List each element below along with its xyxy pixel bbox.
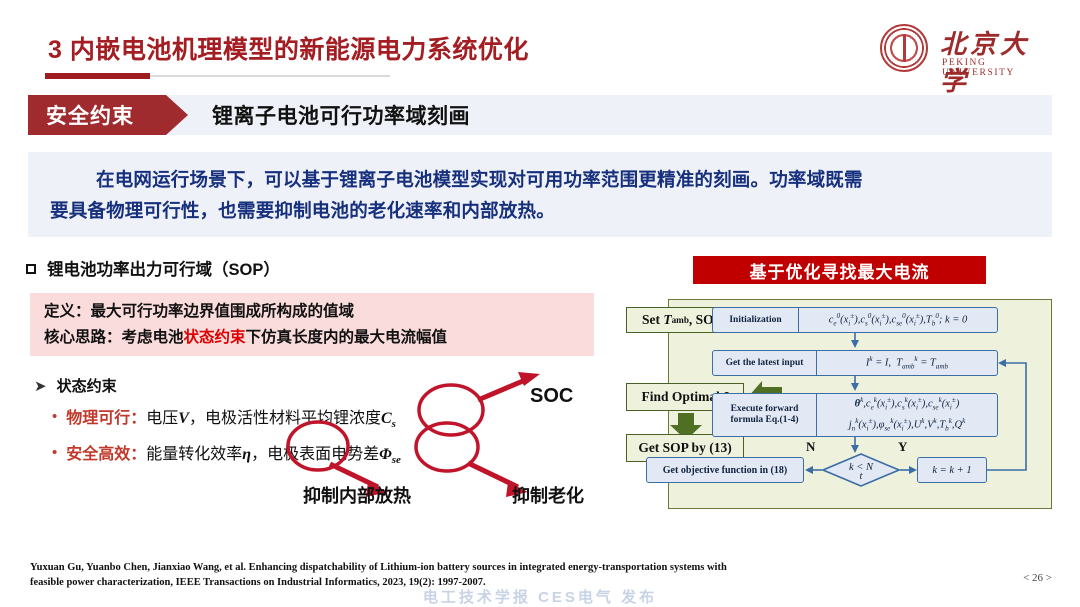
core-idea-line: 核心思路：考虑电池状态约束下仿真长度内的最大电流幅值 xyxy=(44,325,594,351)
flow-block-objective-function: Get objective function in (18) xyxy=(646,457,804,483)
definition-line: 定义：最大可行功率边界值围成所构成的值域 xyxy=(44,299,594,325)
bullet-2-mid: ，电极表面电势差 xyxy=(251,446,379,463)
bullet-2-symbol-2: Φ xyxy=(379,446,392,463)
bullet-1-pre: 电压 xyxy=(146,410,178,427)
bullet-safe-efficient: •安全高效：能量转化效率η，电极表面电势差Φse xyxy=(52,440,401,466)
page-title: 3 内嵌电池机理模型的新能源电力系统优化 xyxy=(48,30,529,66)
definition-label: 定义： xyxy=(44,303,91,320)
flowchart: Set Tamb, SOC0 Find Optimal I Get SOP by… xyxy=(626,295,1052,509)
statement-line-1: 在电网运行场景下，可以基于锂离子电池模型实现对可用功率范围更精准的刻画。功率域既… xyxy=(96,169,863,190)
peking-university-logo: 北京大学 PEKING UNIVERSITY xyxy=(880,22,1050,78)
slide-root: 3 内嵌电池机理模型的新能源电力系统优化 北京大学 PEKING UNIVERS… xyxy=(0,0,1080,607)
annotation-suppress-heat: 抑制内部放热 xyxy=(303,482,411,508)
title-underline xyxy=(45,73,390,79)
state-constraint-label: 状态约束 xyxy=(57,378,117,395)
flow-block-1-equation: ce0(xi±),cs0(xi±),cse0(xi±),Tb0; k = 0 xyxy=(799,310,997,331)
bullet-1-label: 物理可行： xyxy=(66,410,146,427)
annotation-suppress-aging: 抑制老化 xyxy=(512,482,584,508)
bullet-2-pre: 能量转化效率 xyxy=(146,446,242,463)
flow-block-3-label: Execute forwardformula Eq.(1-4) xyxy=(713,394,817,436)
page-number: < 26 > xyxy=(1023,572,1052,584)
flow-block-initialization: Initialization ce0(xi±),cs0(xi±),cse0(xi… xyxy=(712,307,998,333)
dot-bullet-icon: • xyxy=(52,444,57,461)
banner-tag-label: 安全约束 xyxy=(28,95,188,135)
flow-block-execute-forward: Execute forwardformula Eq.(1-4) θk,cek(x… xyxy=(712,393,998,437)
circle-cs-icon xyxy=(419,385,483,435)
definition-text: 最大可行功率边界值围成所构成的值域 xyxy=(91,303,355,320)
bullet-1-symbol-2: C xyxy=(381,410,392,427)
flow-branch-no-label: N xyxy=(806,439,815,455)
flow-block-3-equation: θk,cek(xi±),csk(xi±),csek(xi±) jnk(xi±),… xyxy=(817,394,997,435)
flow-block-increment-k: k = k + 1 xyxy=(917,457,987,483)
flow-block-2-equation: Ik = I, Tambk = Tamb xyxy=(817,353,997,374)
bullet-2-symbol-1: η xyxy=(242,446,251,463)
watermark: 电工技术学报 CES电气 发布 xyxy=(0,586,1080,607)
pku-seal-icon xyxy=(880,24,928,72)
sop-heading: 锂电池功率出力可行域（SOP） xyxy=(26,256,280,280)
flow-decision-node: k < Nt xyxy=(822,453,900,487)
bullet-1-symbol-1: V xyxy=(178,410,189,427)
banner-title: 锂离子电池可行功率域刻画 xyxy=(212,95,470,135)
core-text-post: 下仿真长度内的最大电流幅值 xyxy=(246,329,448,346)
flow-branch-yes-label: Y xyxy=(898,439,907,455)
flow-decision-label: k < Nt xyxy=(822,462,900,473)
core-label: 核心思路： xyxy=(44,329,122,346)
underline-red xyxy=(45,73,150,79)
flow-block-4-equation: Get objective function in (18) xyxy=(647,464,803,477)
bullet-1-mid: ，电极活性材料平均锂浓度 xyxy=(189,410,381,427)
definition-box: 定义：最大可行功率边界值围成所构成的值域 核心思路：考虑电池状态约束下仿真长度内… xyxy=(30,293,594,356)
circle-phi-se-icon xyxy=(416,423,478,471)
core-highlight: 状态约束 xyxy=(184,329,246,346)
flow-block-1-label: Initialization xyxy=(713,308,799,332)
flowchart-title: 基于优化寻找最大电流 xyxy=(693,256,986,284)
arrow-bullet-icon: ➤ xyxy=(34,378,47,395)
sop-heading-label: 锂电池功率出力可行域（SOP） xyxy=(47,261,280,279)
state-constraint-heading: ➤状态约束 xyxy=(34,375,117,396)
statement-paragraph: 在电网运行场景下，可以基于锂离子电池模型实现对可用功率范围更精准的刻画。功率域既… xyxy=(50,164,1032,226)
statement-box: 在电网运行场景下，可以基于锂离子电池模型实现对可用功率范围更精准的刻画。功率域既… xyxy=(28,152,1052,237)
core-text-pre: 考虑电池 xyxy=(122,329,184,346)
flow-block-2-label: Get the latest input xyxy=(713,351,817,375)
citation-line-1: Yuxuan Gu, Yuanbo Chen, Jianxiao Wang, e… xyxy=(30,562,727,573)
statement-line-2: 要具备物理可行性，也需要抑制电池的老化速率和内部放热。 xyxy=(50,200,555,221)
logo-english-name: PEKING UNIVERSITY xyxy=(942,58,1050,78)
flow-block-5-equation: k = k + 1 xyxy=(918,464,986,477)
square-bullet-icon xyxy=(26,264,36,274)
section-banner: 安全约束 锂离子电池可行功率域刻画 xyxy=(28,95,1052,135)
annotation-soc: SOC xyxy=(530,385,573,408)
bullet-2-symbol-2-sub: se xyxy=(392,454,401,466)
dot-bullet-icon: • xyxy=(52,408,57,425)
flow-block-get-latest-input: Get the latest input Ik = I, Tambk = Tam… xyxy=(712,350,998,376)
bullet-1-symbol-2-sub: s xyxy=(392,418,396,430)
bullet-physical-feasible: •物理可行：电压V，电极活性材料平均锂浓度Cs xyxy=(52,404,396,430)
bullet-2-label: 安全高效： xyxy=(66,446,146,463)
